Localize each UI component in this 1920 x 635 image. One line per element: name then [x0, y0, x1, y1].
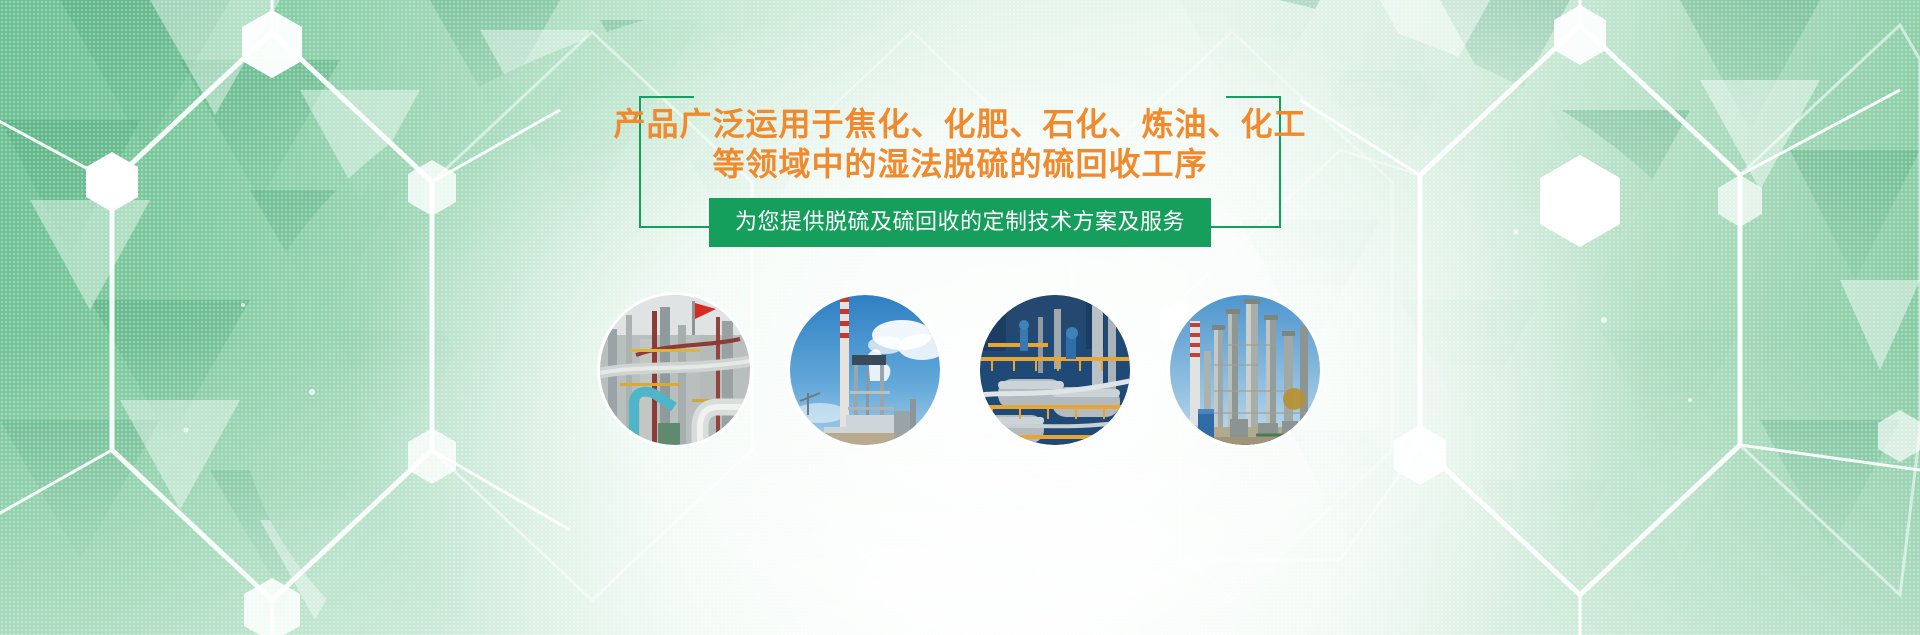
photo-3-image	[980, 295, 1130, 445]
headline: 产品广泛运用于焦化、化肥、石化、炼油、化工 等领域中的湿法脱硫的硫回收工序	[567, 104, 1352, 184]
bracket-top-left	[639, 96, 694, 98]
photo-circle-2[interactable]	[790, 295, 940, 445]
headline-line-1: 产品广泛运用于焦化、化肥、石化、炼油、化工	[613, 104, 1306, 144]
photo-circle-3[interactable]	[980, 295, 1130, 445]
photo-circle-row	[600, 295, 1320, 445]
headline-block: 产品广泛运用于焦化、化肥、石化、炼油、化工 等领域中的湿法脱硫的硫回收工序	[0, 104, 1920, 184]
headline-line-2: 等领域中的湿法脱硫的硫回收工序	[613, 144, 1306, 184]
photo-2-image	[790, 295, 940, 445]
banner-stage: 产品广泛运用于焦化、化肥、石化、炼油、化工 等领域中的湿法脱硫的硫回收工序 为您…	[0, 0, 1920, 635]
bracket-top-right	[1226, 96, 1281, 98]
photo-1-image	[600, 295, 750, 445]
photo-circle-4[interactable]	[1170, 295, 1320, 445]
photo-circle-1[interactable]	[600, 295, 750, 445]
subbanner: 为您提供脱硫及硫回收的定制技术方案及服务	[709, 198, 1211, 247]
photo-4-image	[1170, 295, 1320, 445]
